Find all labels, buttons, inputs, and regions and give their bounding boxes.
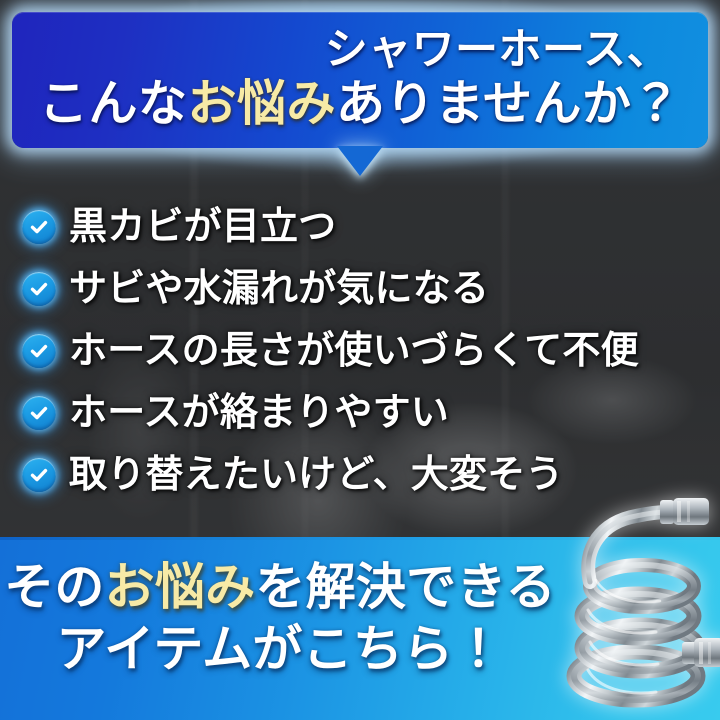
list-item-label: サビや水漏れが気になる (69, 267, 489, 311)
cta-line1-post: を解決できる (255, 559, 556, 615)
check-circle-icon (22, 396, 56, 430)
cta-banner: そのお悩みを解決できる アイテムがこちら！ (0, 537, 720, 720)
check-circle-icon (22, 458, 56, 492)
list-item-label: 取り替えたいけど、大変そう (69, 453, 564, 497)
list-item: 取り替えたいけど、大変そう (0, 444, 720, 506)
list-item: ホースが絡まりやすい (0, 382, 720, 444)
problem-checklist: 黒カビが目立つ サビや水漏れが気になる ホースの長さが使いづらくて不便 (0, 196, 720, 506)
cta-line1-highlight: お悩み (105, 559, 256, 615)
header-line2-highlight: お悩み (188, 77, 336, 131)
cta-line1-pre: その (4, 559, 105, 615)
header-line-1: シャワーホース、 (28, 25, 692, 75)
header-line2-post: ありませんか？ (336, 77, 681, 131)
cta-text-group: そのお悩みを解決できる アイテムがこちら！ (0, 557, 560, 679)
list-item: サビや水漏れが気になる (0, 258, 720, 320)
check-circle-icon (22, 334, 56, 368)
header-pointer-arrow-icon (337, 146, 383, 176)
cta-line-2: アイテムがこちら！ (56, 619, 503, 679)
list-item-label: 黒カビが目立つ (69, 205, 336, 249)
cta-line-1: そのお悩みを解決できる (4, 557, 556, 617)
list-item-label: ホースの長さが使いづらくて不便 (69, 329, 639, 373)
list-item: ホースの長さが使いづらくて不便 (0, 320, 720, 382)
promo-banner-stage: シャワーホース、 こんなお悩みありませんか？ 黒カビが目立つ サビや水漏れが気に… (0, 0, 720, 720)
list-item: 黒カビが目立つ (0, 196, 720, 258)
header-speech-bubble: シャワーホース、 こんなお悩みありませんか？ (12, 12, 708, 148)
header-line-2: こんなお悩みありませんか？ (28, 75, 692, 133)
header-line2-pre: こんな (39, 77, 187, 131)
check-circle-icon (22, 272, 56, 306)
check-circle-icon (22, 210, 56, 244)
cta-top-divider (0, 537, 720, 540)
list-item-label: ホースが絡まりやすい (69, 391, 449, 435)
